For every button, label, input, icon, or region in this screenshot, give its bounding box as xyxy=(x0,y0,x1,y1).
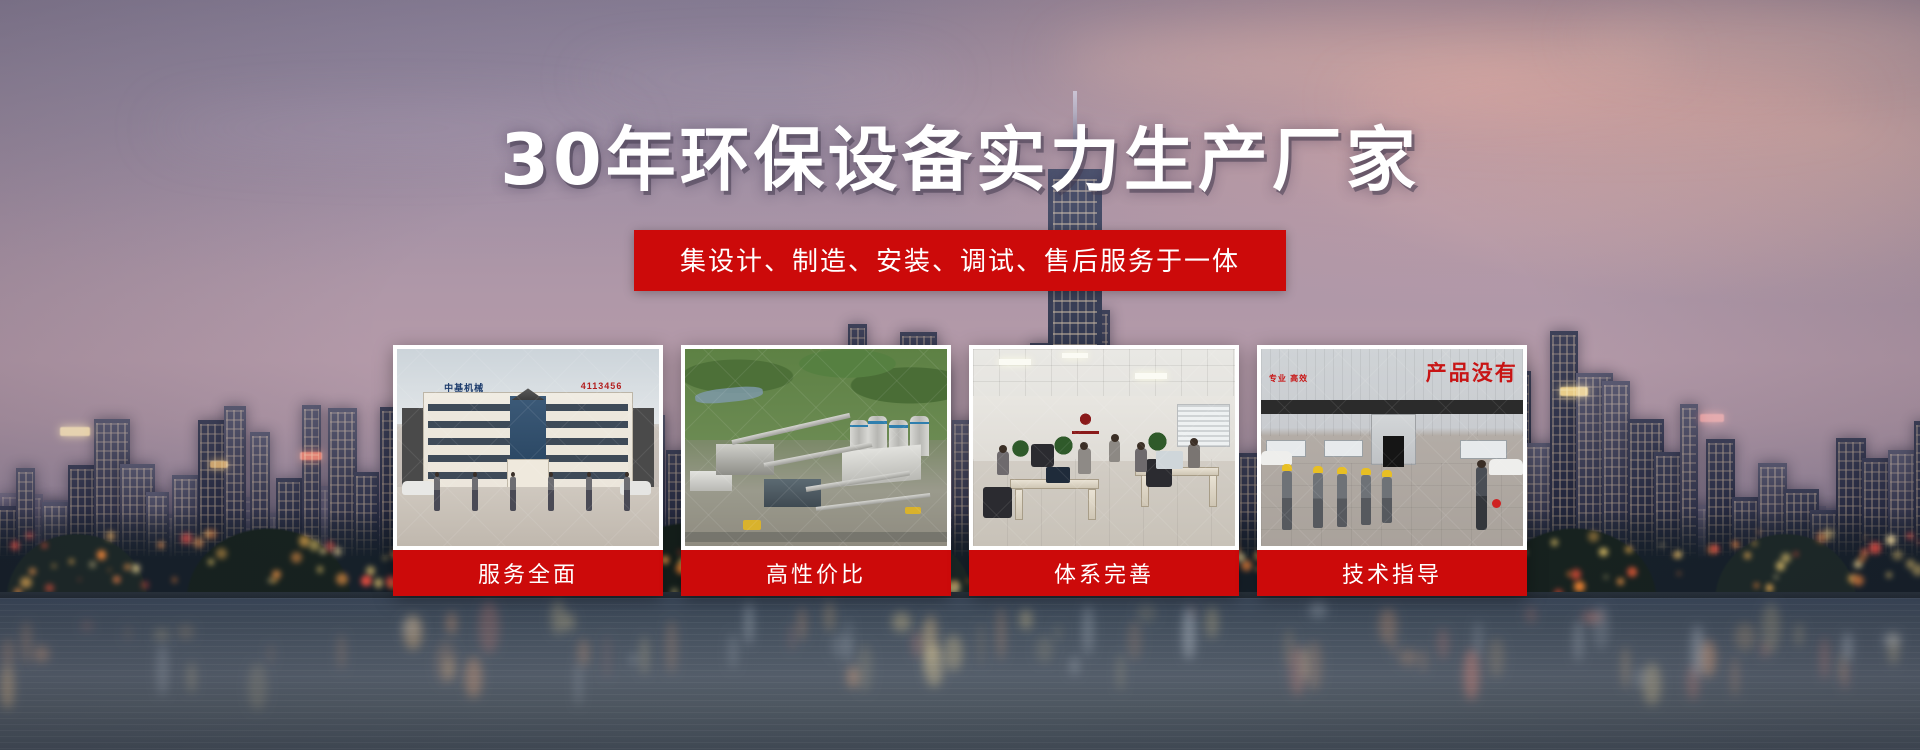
card-caption: 服务全面 xyxy=(393,550,663,596)
feature-card[interactable]: 产品没有 专业 高效 技术指导 xyxy=(1257,345,1527,596)
card-caption: 体系完善 xyxy=(969,550,1239,596)
hero-banner: 30年环保设备实力生产厂家 集设计、制造、安装、调试、售后服务于一体 中基机械 … xyxy=(0,0,1920,750)
watermark-grid xyxy=(973,349,1235,546)
card-caption: 高性价比 xyxy=(681,550,951,596)
card-photo-factory-workers: 产品没有 专业 高效 xyxy=(1261,349,1523,546)
subtitle-badge: 集设计、制造、安装、调试、售后服务于一体 xyxy=(634,230,1286,291)
watermark-grid xyxy=(685,349,947,546)
card-photo-office-interior xyxy=(973,349,1235,546)
watermark-grid xyxy=(397,349,659,546)
card-photo-industrial-plant xyxy=(685,349,947,546)
page-title: 30年环保设备实力生产厂家 xyxy=(0,104,1920,205)
feature-card[interactable]: 中基机械 4113456 服务全面 xyxy=(393,345,663,596)
card-caption: 技术指导 xyxy=(1257,550,1527,596)
card-photo-office-building: 中基机械 4113456 xyxy=(397,349,659,546)
river-water xyxy=(0,598,1920,750)
subtitle-container: 集设计、制造、安装、调试、售后服务于一体 xyxy=(0,230,1920,291)
cloud xyxy=(576,60,956,96)
watermark-grid xyxy=(1261,349,1523,546)
feature-card-list: 中基机械 4113456 服务全面 高性价比 xyxy=(393,345,1527,596)
feature-card[interactable]: 体系完善 xyxy=(969,345,1239,596)
feature-card[interactable]: 高性价比 xyxy=(681,345,951,596)
